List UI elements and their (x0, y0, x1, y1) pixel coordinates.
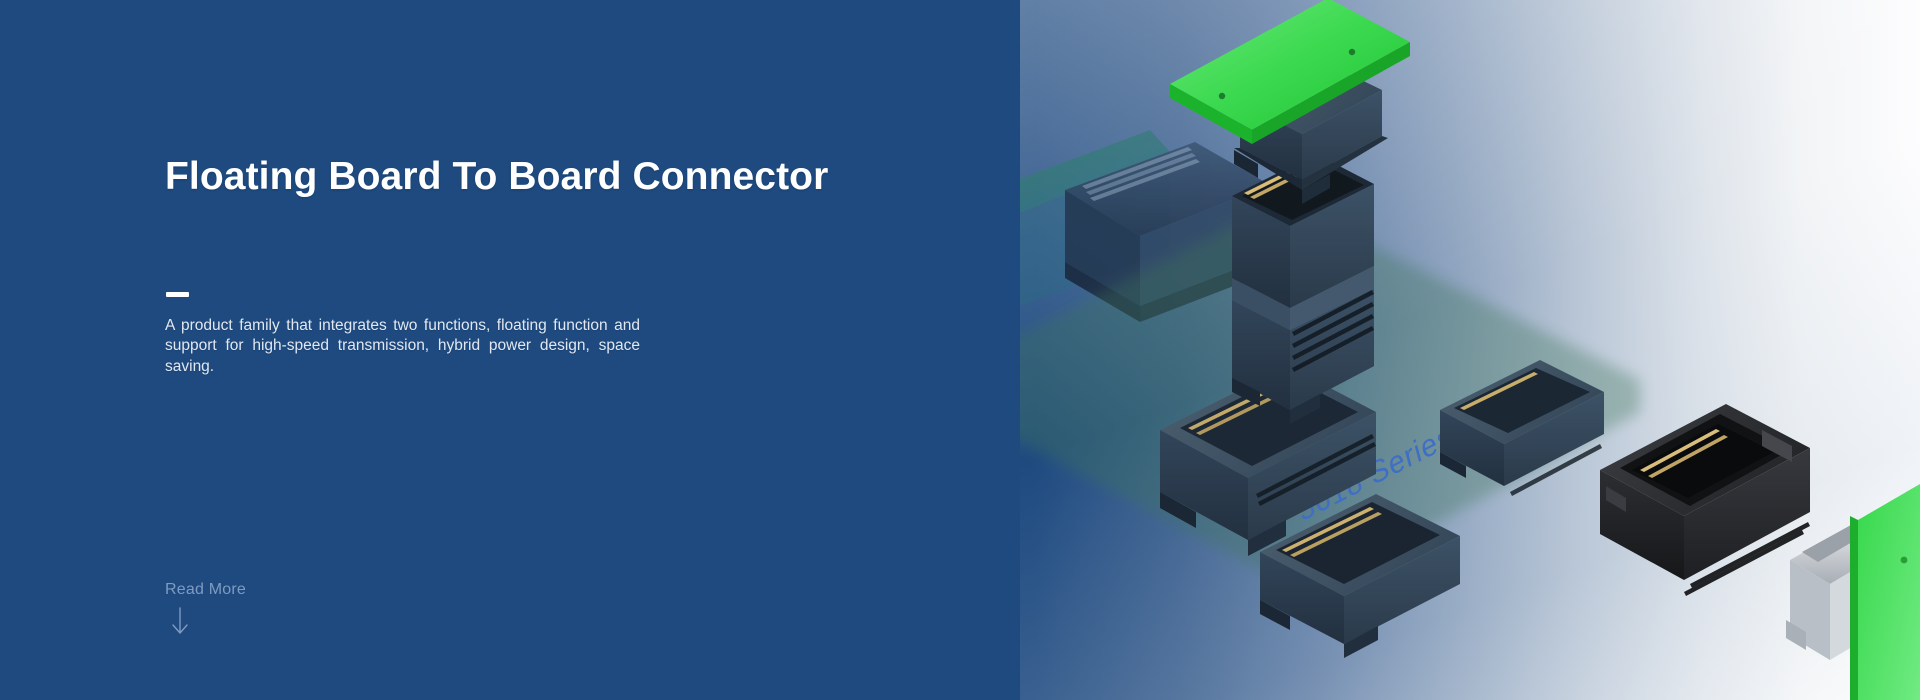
connector-right-black (1600, 404, 1810, 596)
hero-description: A product family that integrates two fun… (165, 316, 640, 377)
product-illustration: WCON 3618 Series (1020, 0, 1920, 700)
hero-banner: WCON 3618 Series (0, 0, 1920, 700)
down-arrow-icon[interactable] (169, 606, 191, 638)
accent-dash (166, 292, 189, 297)
page-title: Floating Board To Board Connector (165, 155, 925, 200)
right-green-board (1850, 420, 1920, 700)
hero-text-block: Floating Board To Board Connector A prod… (165, 0, 725, 700)
read-more-link[interactable]: Read More (165, 580, 246, 599)
